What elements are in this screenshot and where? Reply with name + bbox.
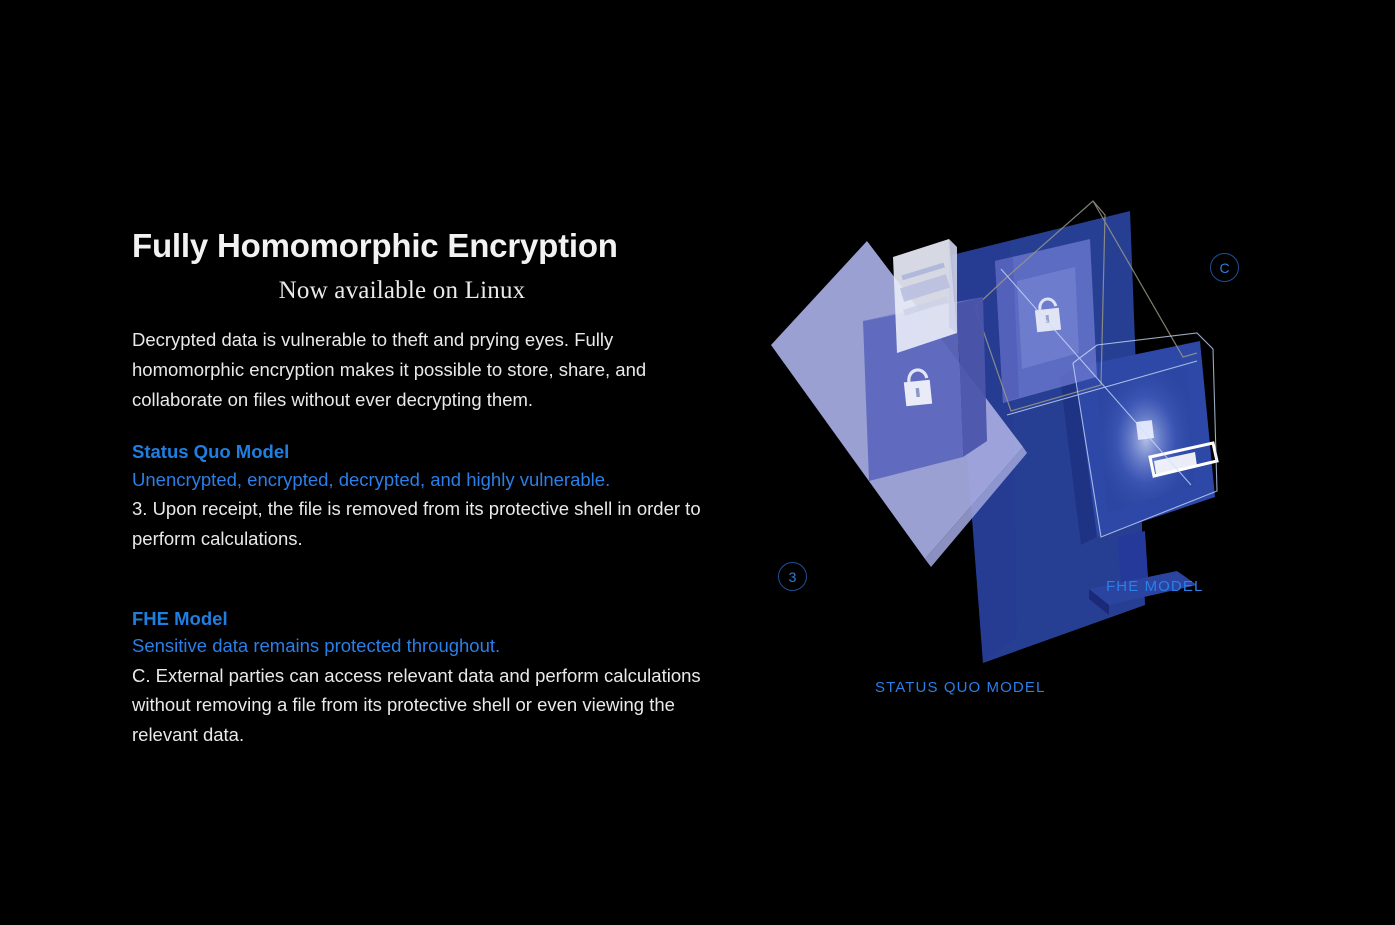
section-body-status-quo: 3. Upon receipt, the file is removed fro… bbox=[132, 494, 704, 554]
section-status-quo: Status Quo Model Unencrypted, encrypted,… bbox=[132, 438, 712, 554]
section-heading-status-quo: Status Quo Model bbox=[132, 438, 712, 466]
document-icon-status-quo bbox=[893, 239, 957, 353]
slide-root: Fully Homomorphic Encryption Now availab… bbox=[0, 0, 1395, 925]
illustration-marker-fhe-step: C bbox=[1210, 253, 1239, 282]
intro-paragraph: Decrypted data is vulnerable to theft an… bbox=[132, 325, 704, 415]
section-heading-fhe: FHE Model bbox=[132, 605, 712, 633]
page-subtitle: Now available on Linux bbox=[132, 277, 672, 305]
section-subheading-status-quo: Unencrypted, encrypted, decrypted, and h… bbox=[132, 466, 712, 494]
document-sheet-fold bbox=[949, 239, 957, 333]
text-column: Fully Homomorphic Encryption Now availab… bbox=[132, 228, 712, 750]
section-body-fhe: C. External parties can access relevant … bbox=[132, 661, 704, 751]
section-subheading-fhe: Sensitive data remains protected through… bbox=[132, 632, 712, 660]
illustration-label-fhe-model: FHE MODEL bbox=[1106, 578, 1203, 595]
illustration bbox=[745, 185, 1275, 725]
page-title: Fully Homomorphic Encryption bbox=[132, 228, 712, 265]
illustration-marker-status-quo-step: 3 bbox=[778, 562, 807, 591]
illustration-label-status-quo-model: STATUS QUO MODEL bbox=[875, 679, 1045, 696]
monitor-screen-center-square bbox=[1136, 420, 1154, 440]
section-fhe: FHE Model Sensitive data remains protect… bbox=[132, 605, 712, 751]
fhe-locked-file-group bbox=[995, 239, 1097, 403]
